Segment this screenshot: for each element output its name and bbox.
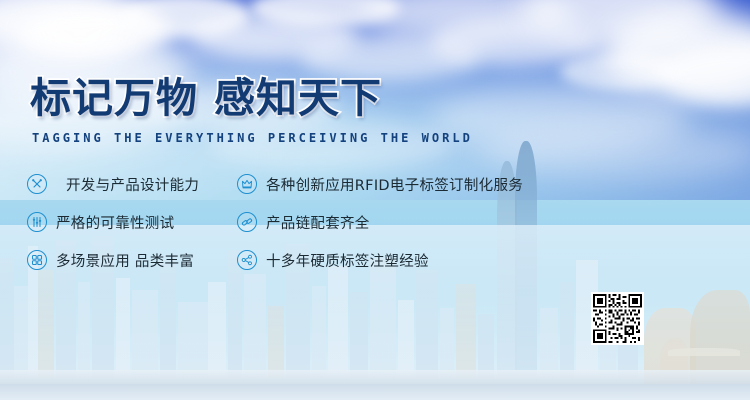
sliders-icon <box>27 212 47 232</box>
feature-label: 严格的可靠性测试 <box>56 212 174 233</box>
headline-part-1: 标记万物 <box>30 74 198 122</box>
feature-item: 多场景应用 品类丰富 <box>27 248 194 272</box>
headline: 标记万物感知天下 <box>30 78 382 119</box>
feature-label: 十多年硬质标签注塑经验 <box>266 250 429 271</box>
qr-code[interactable] <box>591 292 644 345</box>
feature-label: 开发与产品设计能力 <box>66 174 199 195</box>
feature-item: 开发与产品设计能力 <box>27 172 199 196</box>
qr-code-pattern <box>593 294 642 343</box>
feature-item: 严格的可靠性测试 <box>27 210 174 234</box>
crown-icon <box>237 174 257 194</box>
feature-label: 多场景应用 品类丰富 <box>56 250 194 271</box>
promo-banner: 标记万物感知天下 TAGGING THE EVERYTHING PERCEIVI… <box>0 0 750 400</box>
grid-icon <box>27 250 47 270</box>
headline-part-2: 感知天下 <box>214 74 382 122</box>
feature-item: 各种创新应用RFID电子标签订制化服务 <box>237 172 523 196</box>
feature-list: 开发与产品设计能力 严格的可靠性测试 <box>0 168 750 280</box>
subheadline: TAGGING THE EVERYTHING PERCEIVING THE WO… <box>32 130 473 145</box>
feature-item: 十多年硬质标签注塑经验 <box>237 248 429 272</box>
tools-icon <box>27 174 47 194</box>
feature-label: 各种创新应用RFID电子标签订制化服务 <box>266 174 523 195</box>
share-icon <box>237 250 257 270</box>
feature-label: 产品链配套齐全 <box>266 212 370 233</box>
feature-item: 产品链配套齐全 <box>237 210 370 234</box>
link-icon <box>237 212 257 232</box>
